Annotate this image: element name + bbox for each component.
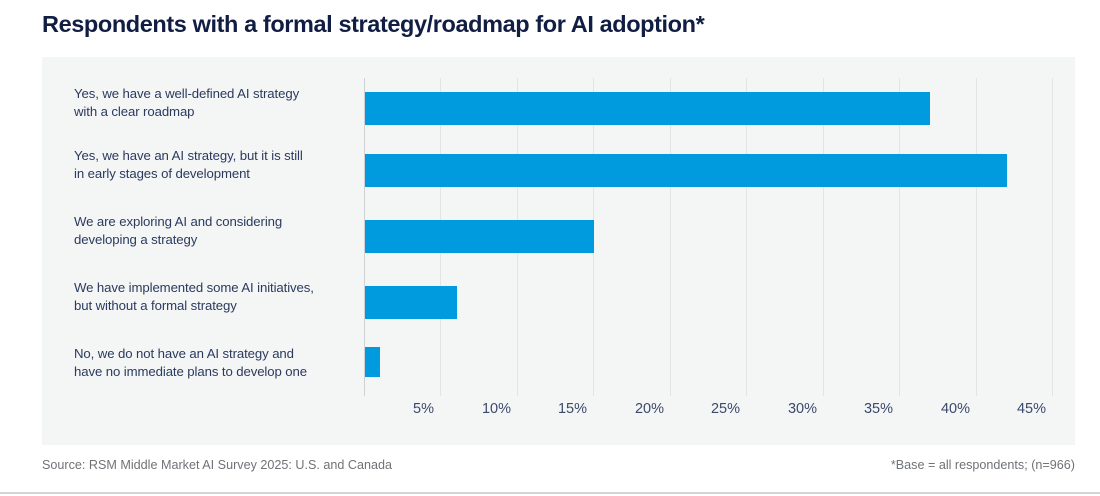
category-label: Yes, we have a well-defined AI strategy …: [74, 85, 374, 120]
tick-label-30: 30%: [788, 401, 823, 417]
tick-label-15: 15%: [558, 401, 593, 417]
base-note: *Base = all respondents; (n=966): [891, 458, 1075, 472]
gridline-45: [1052, 78, 1053, 396]
category-label: Yes, we have an AI strategy, but it is s…: [74, 147, 374, 182]
category-label-line: Yes, we have a well-defined AI strategy: [74, 85, 374, 103]
chart-panel: Yes, we have a well-defined AI strategy …: [42, 57, 1075, 445]
page-title: Respondents with a formal strategy/roadm…: [42, 11, 1062, 38]
tick-label-40: 40%: [941, 401, 976, 417]
plot-area: [364, 78, 1075, 396]
tick-label-20: 20%: [635, 401, 670, 417]
category-label: No, we do not have an AI strategy and ha…: [74, 345, 374, 380]
bar-3[interactable]: [365, 286, 457, 319]
gridline-20: [670, 78, 671, 396]
gridline-40: [976, 78, 977, 396]
category-label: We are exploring AI and considering deve…: [74, 213, 374, 248]
tick-label-25: 25%: [711, 401, 746, 417]
tick-label-10: 10%: [482, 401, 517, 417]
category-label-line: Yes, we have an AI strategy, but it is s…: [74, 147, 374, 165]
chart-footer: Source: RSM Middle Market AI Survey 2025…: [0, 445, 1100, 492]
bottom-divider: [0, 492, 1100, 494]
gridline-25: [746, 78, 747, 396]
gridline-35: [899, 78, 900, 396]
tick-label-35: 35%: [864, 401, 899, 417]
category-label-line: but without a formal strategy: [74, 297, 374, 315]
category-label-line: developing a strategy: [74, 231, 374, 249]
gridline-30: [823, 78, 824, 396]
category-label-line: have no immediate plans to develop one: [74, 363, 374, 381]
source-note: Source: RSM Middle Market AI Survey 2025…: [42, 458, 392, 472]
bar-2[interactable]: [365, 220, 594, 253]
category-label-line: We are exploring AI and considering: [74, 213, 374, 231]
x-axis-tick-labels: 5% 10% 15% 20% 25% 30% 35% 40% 45%: [364, 396, 1075, 426]
category-label-line: in early stages of development: [74, 165, 374, 183]
bar-4[interactable]: [365, 347, 380, 377]
bar-0[interactable]: [365, 92, 930, 125]
category-label: We have implemented some AI initiatives,…: [74, 279, 374, 314]
tick-label-45: 45%: [1017, 401, 1052, 417]
category-label-column: Yes, we have a well-defined AI strategy …: [74, 57, 374, 445]
bar-1[interactable]: [365, 154, 1007, 187]
category-label-line: No, we do not have an AI strategy and: [74, 345, 374, 363]
chart-page: Respondents with a formal strategy/roadm…: [0, 0, 1100, 496]
tick-label-5: 5%: [413, 401, 440, 417]
category-label-line: We have implemented some AI initiatives,: [74, 279, 374, 297]
category-label-line: with a clear roadmap: [74, 103, 374, 121]
